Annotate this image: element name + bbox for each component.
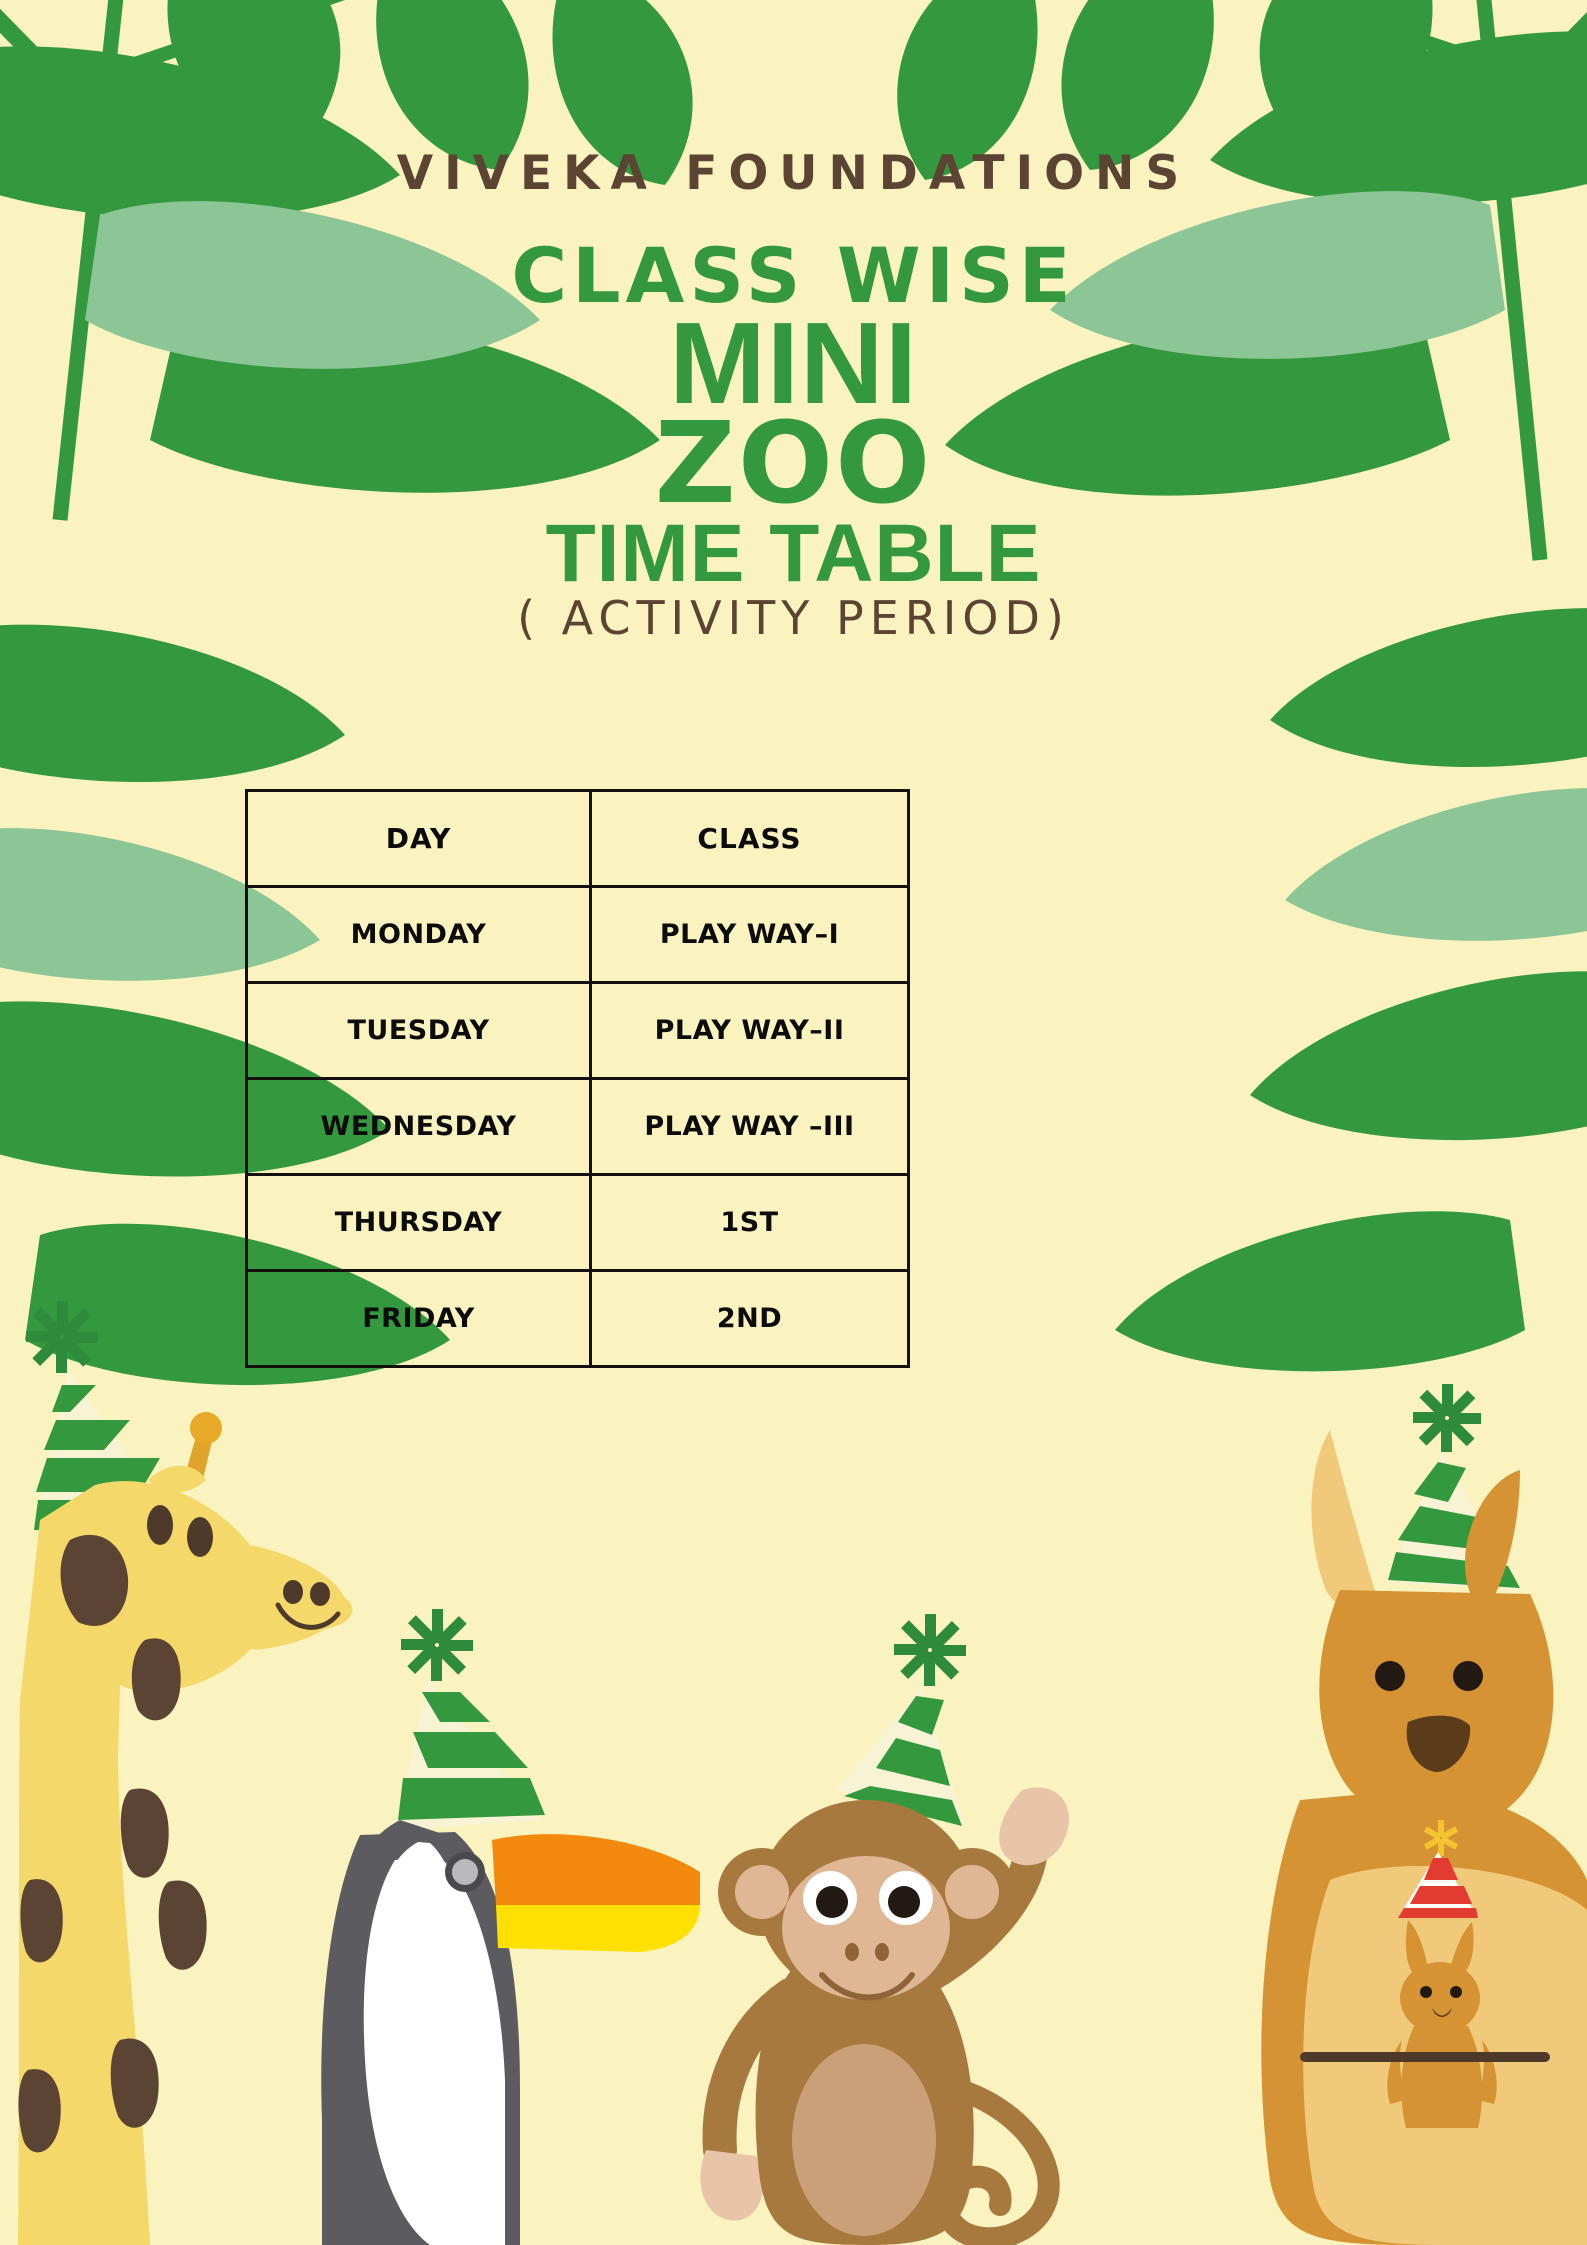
animals-foreground — [0, 0, 1587, 2245]
toucan-icon — [321, 1609, 700, 2245]
giraffe-icon — [18, 1295, 353, 2245]
party-hat-icon — [836, 1614, 966, 1826]
party-hat-icon — [395, 1609, 545, 1830]
poster-canvas: VIVEKA FOUNDATIONS CLASS WISE MINI ZOO T… — [0, 0, 1587, 2245]
kangaroo-icon — [1261, 1384, 1587, 2245]
monkey-icon — [700, 1614, 1069, 2245]
